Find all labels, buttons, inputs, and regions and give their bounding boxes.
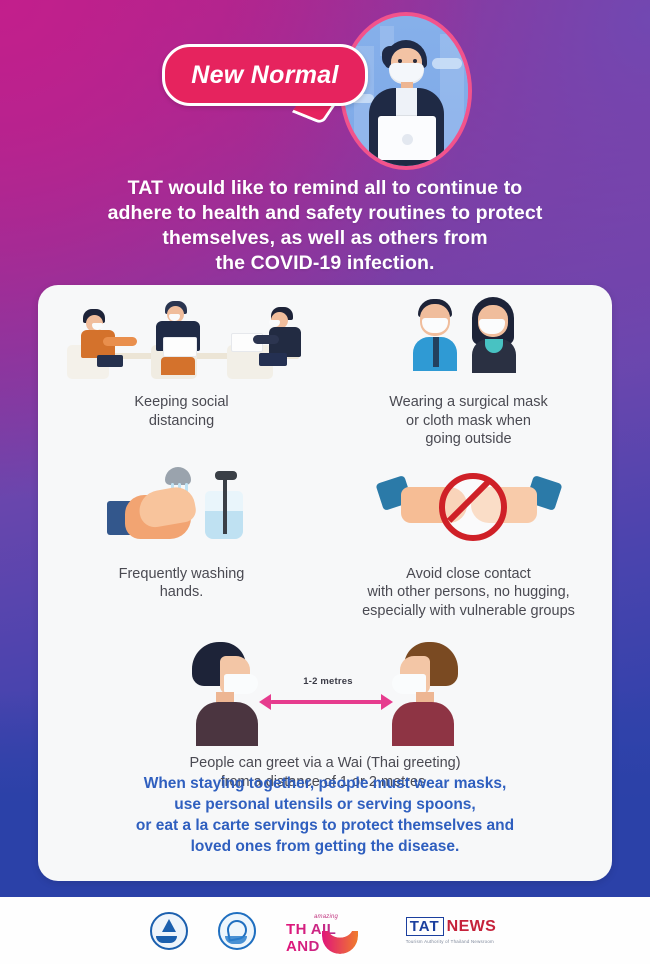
legs	[161, 357, 195, 375]
shirt	[392, 702, 454, 746]
tat-news-logo: TAT NEWS Tourism Authority of Thailand N…	[402, 914, 500, 948]
amazing-thailand-logo: amazing TH AIL AND	[286, 913, 372, 949]
tip-caption: Frequently washing hands.	[119, 565, 245, 602]
caption-line: Avoid close contact	[362, 565, 575, 584]
tips-grid: Keeping social distancing	[38, 295, 612, 792]
intro-line: themselves, as well as others from	[25, 226, 625, 251]
intro-line: TAT would like to remind all to continue…	[25, 176, 625, 201]
face-mask	[422, 318, 448, 333]
person-female	[467, 295, 521, 383]
face-mask	[224, 674, 258, 694]
laptop	[163, 337, 197, 357]
avatar-cloud	[432, 58, 462, 69]
ministry-emblem-icon	[150, 912, 188, 950]
distance-arrow-icon	[270, 700, 382, 704]
tip-wearing-mask: Wearing a surgical mask or cloth mask wh…	[325, 295, 612, 449]
masked-couple-scene	[409, 295, 529, 383]
caption-line: People can greet via a Wai (Thai greetin…	[189, 754, 460, 773]
tips-card: Keeping social distancing	[38, 285, 612, 881]
two-people-facing-distance-icon: 1-2 metres	[160, 638, 490, 750]
tat-emblem-icon	[218, 912, 256, 950]
tips-row-2: Frequently washing hands.	[38, 465, 612, 621]
tips-row-1: Keeping social distancing	[38, 295, 612, 449]
tip-washing-hands: Frequently washing hands.	[38, 465, 325, 621]
person-dark	[257, 307, 309, 381]
caption-line: Wearing a surgical mask	[389, 393, 548, 412]
necktie	[433, 337, 439, 367]
shirt	[196, 702, 258, 746]
arm	[103, 337, 137, 346]
tip-wai-greeting: 1-2 metres People can greet via a Wai (T…	[38, 638, 612, 792]
legs	[97, 355, 123, 367]
closing-line: or eat a la carte servings to protect th…	[60, 815, 590, 836]
pump-head	[215, 471, 237, 480]
tat-news-tagline: Tourism Authority of Thailand Newsroom	[406, 939, 497, 944]
arm	[253, 335, 279, 344]
person-male	[409, 295, 461, 383]
avatar-laptop-logo	[402, 134, 413, 145]
infographic-poster: New Normal TAT would like to remind all …	[0, 0, 650, 964]
amazing-thailand-small-text: amazing	[314, 914, 338, 920]
closing-line: When staying together, people must wear …	[60, 773, 590, 794]
closing-line: loved ones from getting the disease.	[60, 836, 590, 857]
tip-avoid-close-contact: Avoid close contact with other persons, …	[325, 465, 612, 621]
people-at-table-distancing-icon	[59, 295, 304, 387]
soap-foam	[165, 467, 191, 485]
tat-news-tat-text: TAT	[406, 917, 444, 936]
caption-line: especially with vulnerable groups	[362, 602, 575, 621]
legs	[259, 353, 287, 366]
person-navy	[151, 301, 207, 381]
social-distancing-scene	[59, 295, 304, 381]
caption-line: hands.	[119, 583, 245, 602]
masked-couple-icon	[409, 295, 529, 387]
wai-greeting-scene: 1-2 metres	[160, 638, 490, 746]
intro-line: the COVID-19 infection.	[25, 251, 625, 276]
person-right	[376, 642, 462, 742]
caption-line: going outside	[389, 430, 548, 449]
washing-hands-scene	[107, 465, 257, 557]
new-normal-badge: New Normal	[162, 44, 368, 106]
poster-header: New Normal	[0, 0, 650, 172]
tip-caption: Avoid close contact with other persons, …	[362, 565, 575, 621]
footer-logo-strip: amazing TH AIL AND TAT NEWS Tourism Auth…	[0, 897, 650, 964]
intro-line: adhere to health and safety routines to …	[25, 201, 625, 226]
tip-caption: Wearing a surgical mask or cloth mask wh…	[389, 393, 548, 449]
prohibition-sign-icon	[439, 473, 507, 541]
person-orange	[77, 309, 137, 379]
tip-social-distancing: Keeping social distancing	[38, 295, 325, 449]
avatar-face-mask	[389, 63, 424, 84]
face-mask	[92, 323, 103, 330]
caption-line: distancing	[134, 412, 228, 431]
caption-line: Keeping social	[134, 393, 228, 412]
intro-heading: TAT would like to remind all to continue…	[25, 176, 625, 276]
face-mask	[479, 319, 505, 334]
closing-line: use personal utensils or serving spoons,	[60, 794, 590, 815]
closing-message: When staying together, people must wear …	[60, 773, 590, 857]
caption-line: with other persons, no hugging,	[362, 583, 575, 602]
tip-caption: Keeping social distancing	[134, 393, 228, 430]
washing-hands-with-soap-icon	[107, 465, 257, 559]
person-left	[190, 642, 276, 742]
new-normal-label: New Normal	[191, 61, 338, 90]
pump-stem	[223, 478, 227, 534]
caption-line: or cloth mask when	[389, 412, 548, 431]
tips-row-3: 1-2 metres People can greet via a Wai (T…	[38, 638, 612, 792]
tat-emblem-logo	[218, 912, 256, 950]
no-handshake-scene	[379, 465, 559, 543]
tat-news-news-text: NEWS	[447, 918, 497, 936]
ministry-emblem-logo	[150, 912, 188, 950]
distance-label: 1-2 metres	[288, 676, 368, 687]
face-mask	[392, 674, 426, 694]
caption-line: Frequently washing	[119, 565, 245, 584]
tat-news-wordmark: TAT NEWS	[406, 917, 497, 936]
no-handshake-icon	[379, 465, 559, 559]
